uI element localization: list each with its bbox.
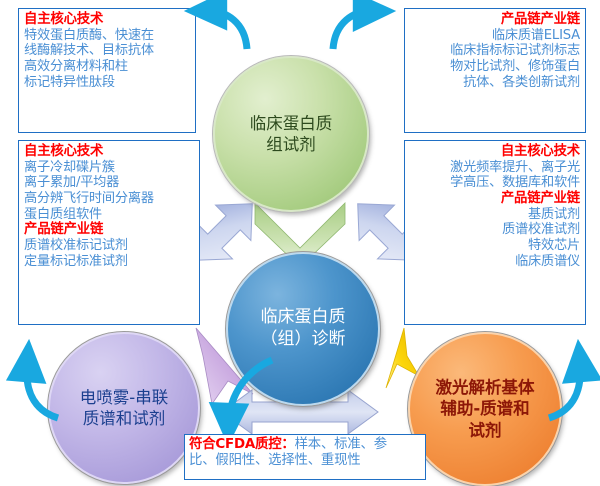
box-line: 比、假阳性、选择性、重现性 xyxy=(189,453,421,469)
arrow-purple-to-bottom-box xyxy=(229,360,272,421)
arrow-box-mr-to-orange xyxy=(549,364,580,418)
arrow-box-tl-to-green xyxy=(209,11,247,49)
arrow-box-ml-to-purple xyxy=(27,364,58,418)
box-line-rest: 样本、标准、参 xyxy=(295,437,387,452)
diagram-canvas: 自主核心技术 特效蛋白质酶、快速在 线酶解技术、目标抗体 高效分离材料和柱 标记… xyxy=(0,0,600,485)
box-line-highlight: 符合CFDA质控： xyxy=(189,437,295,452)
box-line: 符合CFDA质控：样本、标准、参 xyxy=(189,437,421,453)
info-box-bottom-center[interactable]: 符合CFDA质控：样本、标准、参 比、假阳性、选择性、重现性 xyxy=(184,434,426,480)
arrow-layer-front xyxy=(0,0,600,485)
arrow-box-tr-to-green xyxy=(333,11,371,49)
